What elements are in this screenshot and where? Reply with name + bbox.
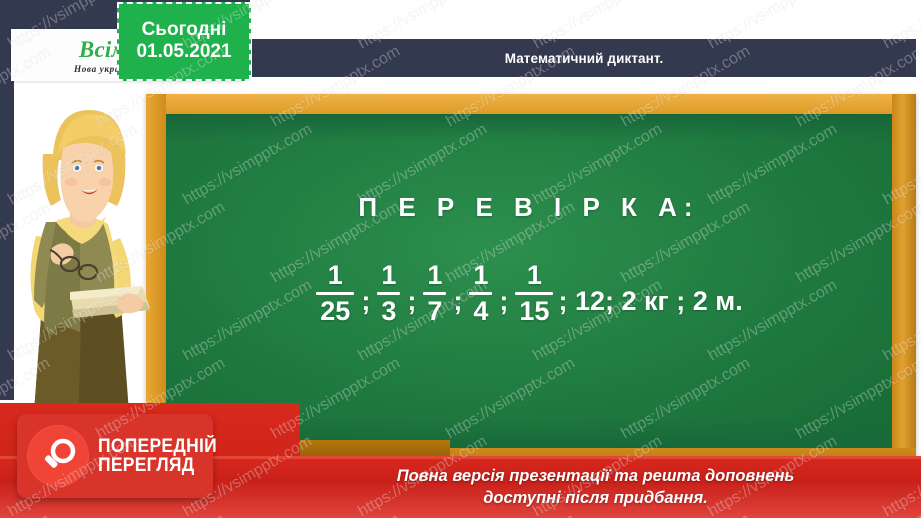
answer-separator: ; [401,286,422,317]
fraction-numerator: 1 [523,262,546,289]
preview-label-line1: ПОПЕРЕДНІЙ [98,437,217,456]
fraction-denominator: 25 [316,298,354,325]
teacher-illustration [8,96,158,426]
today-date-value: 01.05.2021 [136,41,231,64]
fraction-bar [469,292,492,295]
fraction: 125 [316,262,354,325]
slide-canvas: Всім.pptx Нова українська школа Сьогодні… [0,0,921,518]
fraction-bar [423,292,446,295]
fraction-numerator: 1 [377,262,400,289]
answer-separator: ; [447,286,468,317]
fraction: 13 [377,262,400,325]
fraction: 14 [469,262,492,325]
slide-title: Математичний диктант. [505,51,664,66]
fraction: 17 [423,262,446,325]
preview-button[interactable]: ПОПЕРЕДНІЙ ПЕРЕГЛЯД [17,414,213,498]
fraction-denominator: 3 [377,298,400,325]
answers-row: 125;13;17;14;115; 12; 2 кг ; 2 м. [166,262,892,325]
fraction: 115 [515,262,553,325]
today-date-badge: Сьогодні 01.05.2021 [117,2,251,81]
slide-header-bar: Математичний диктант. [252,39,916,77]
purchase-banner-text: Повна версія презентації та решта доповн… [127,465,795,510]
answers-tail: ; 12; 2 кг ; 2 м. [554,286,742,317]
answer-separator: ; [355,286,376,317]
answer-separator: ; [493,286,514,317]
today-label: Сьогодні [142,19,227,41]
fraction-denominator: 15 [515,298,553,325]
frame-right-edge [892,94,916,470]
purchase-banner-line1: Повна версія презентації та решта доповн… [397,465,795,487]
preview-button-label: ПОПЕРЕДНІЙ ПЕРЕГЛЯД [98,437,217,476]
purchase-banner-line2: доступні після придбання. [397,487,795,509]
fraction-numerator: 1 [423,262,446,289]
board-top-shadow [166,114,892,140]
fraction-denominator: 4 [469,298,492,325]
fraction-bar [377,292,400,295]
fraction-numerator: 1 [324,262,347,289]
board-heading: П Е Р Е В І Р К А: [166,192,892,223]
magnifier-icon [27,425,89,487]
frame-top-edge [146,94,916,114]
fraction-bar [515,292,553,295]
preview-label-line2: ПЕРЕГЛЯД [98,456,217,475]
fraction-denominator: 7 [423,298,446,325]
fraction-numerator: 1 [469,262,492,289]
blackboard-surface: П Е Р Е В І Р К А: 125;13;17;14;115; 12;… [166,114,892,448]
fraction-bar [316,292,354,295]
